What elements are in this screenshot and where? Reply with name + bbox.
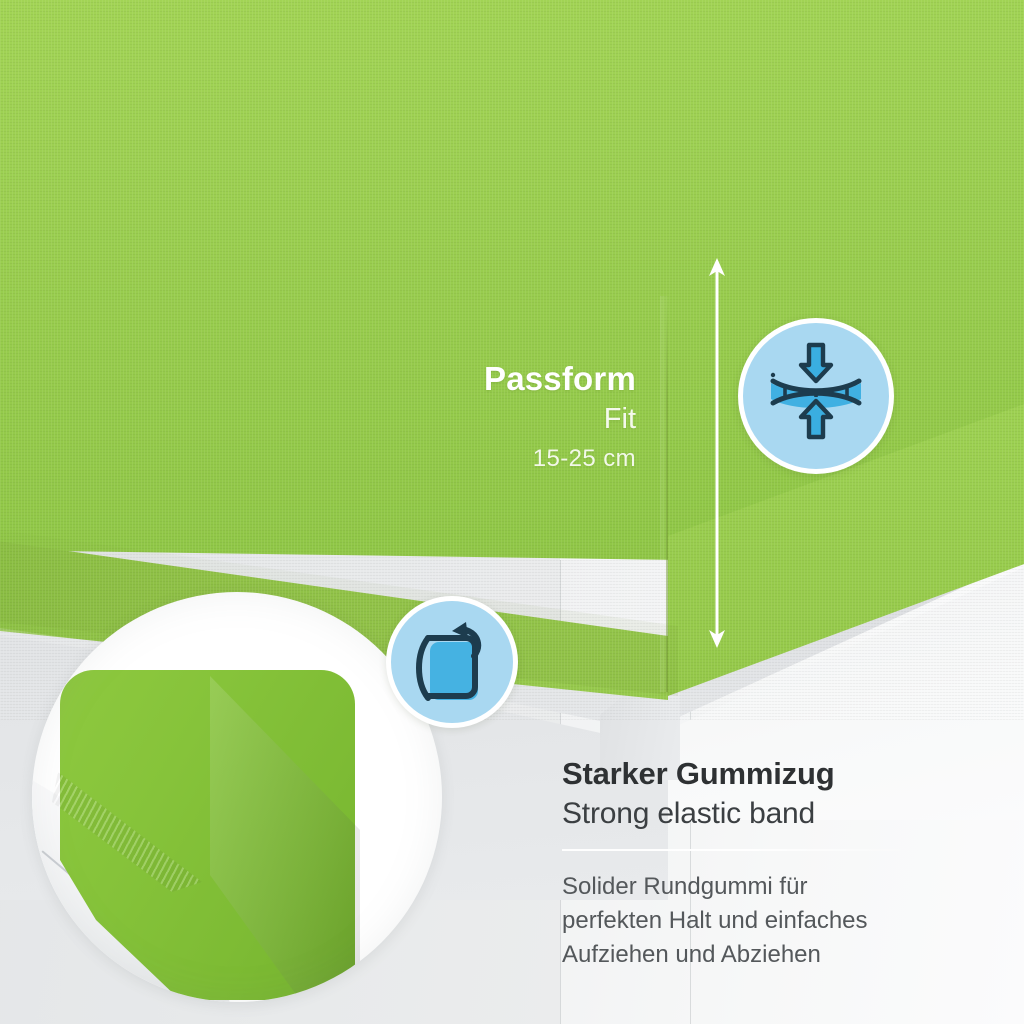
elastic-body-line-1: Solider Rundgummi für xyxy=(562,870,962,904)
product-infographic: Passform Fit 15-25 cm xyxy=(0,0,1024,1024)
divider xyxy=(562,849,914,851)
mattress-compression-icon xyxy=(738,318,894,474)
fit-title-de: Passform xyxy=(300,362,636,397)
sheet-corner-highlight xyxy=(660,296,670,692)
elastic-title-en: Strong elastic band xyxy=(562,796,962,833)
sheet-corner-seam xyxy=(666,300,668,692)
elastic-body-line-2: perfekten Halt und einfaches xyxy=(562,904,962,938)
elastic-callout-text: Starker Gummizug Strong elastic band Sol… xyxy=(562,756,962,972)
height-measure-arrow xyxy=(700,258,734,648)
fitted-sheet-corner-closeup xyxy=(32,592,442,1002)
fit-range-label: 15-25 cm xyxy=(300,443,636,474)
elastic-body-line-3: Aufziehen und Abziehen xyxy=(562,938,962,972)
elastic-title-de: Starker Gummizug xyxy=(562,756,962,793)
stretch-roll-icon xyxy=(386,596,518,728)
fit-callout-text: Passform Fit 15-25 cm xyxy=(300,362,636,474)
elastic-body: Solider Rundgummi für perfekten Halt und… xyxy=(562,870,962,972)
fit-title-en: Fit xyxy=(300,401,636,439)
